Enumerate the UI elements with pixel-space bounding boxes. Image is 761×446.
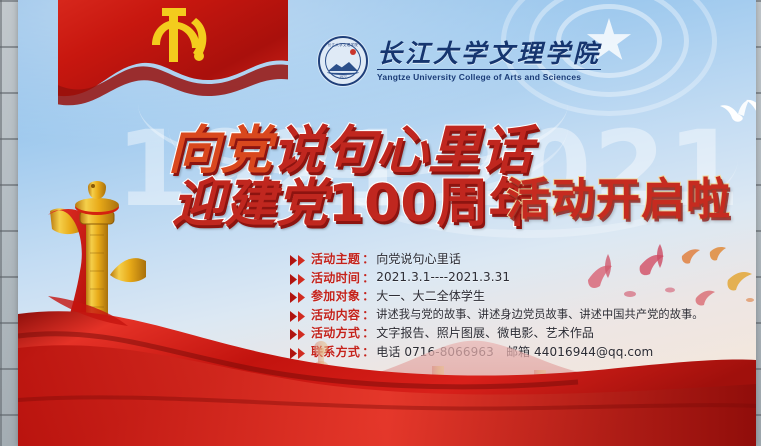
school-logo: 长江大学文理学院 1977 长江大学文理学院 Yangtze Universit… xyxy=(318,36,601,86)
school-seal-icon: 长江大学文理学院 1977 xyxy=(318,36,368,86)
info-colon: ： xyxy=(362,269,374,286)
event-banner: 1921 2021 xyxy=(18,0,756,446)
info-label: 活动时间 xyxy=(311,269,360,286)
info-row: 活动时间 ： 2021.3.1----2021.3.31 xyxy=(290,269,720,286)
photo-of-banner: 1921 2021 xyxy=(0,0,761,446)
seal-year: 1977 xyxy=(320,75,366,79)
institution-name-cn: 长江大学文理学院 xyxy=(377,40,601,67)
institution-name-en: Yangtze University College of Arts and S… xyxy=(377,69,601,82)
headline-line2-part1: 迎建党 xyxy=(172,173,328,234)
double-chevron-icon xyxy=(290,253,307,264)
info-value: 2021.3.1----2021.3.31 xyxy=(376,270,510,284)
party-flag-icon xyxy=(58,0,288,116)
headline-line1-part1: 向党 xyxy=(168,120,272,181)
seal-text: 长江大学文理学院 xyxy=(320,42,366,47)
info-value: 向党说句心里话 xyxy=(376,250,461,267)
double-chevron-icon xyxy=(290,272,307,283)
headline-right: 活动开启啦 xyxy=(506,163,731,227)
info-label: 活动主题 xyxy=(311,250,360,267)
info-colon: ： xyxy=(362,250,374,267)
dove-icon xyxy=(708,92,756,132)
headline: 向党说句心里话 迎建党100周年 xyxy=(168,126,528,230)
headline-line1-part2: 说句心里话 xyxy=(272,120,532,181)
red-ribbon xyxy=(18,296,756,446)
info-row: 活动主题 ： 向党说句心里话 xyxy=(290,250,720,267)
